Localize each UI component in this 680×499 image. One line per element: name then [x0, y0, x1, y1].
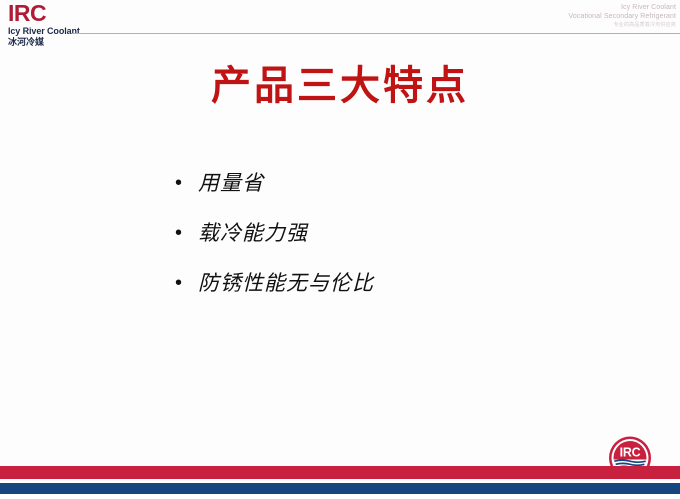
brand-logo-chinese-name: 冰河冷媒 — [8, 38, 92, 49]
header-tagline-line-3: 专业的高品质载冷剂供应商 — [569, 21, 677, 29]
list-item: • 载冷能力强 — [170, 218, 630, 268]
list-item-label: 载冷能力强 — [198, 218, 308, 248]
brand-logo-english-name: Icy River Coolant — [8, 26, 92, 37]
brand-logo: IRC Icy River Coolant 冰河冷媒 — [8, 2, 92, 49]
header-tagline: Icy River Coolant Vocational Secondary R… — [569, 3, 677, 29]
page-title: 产品三大特点 — [0, 62, 680, 110]
svg-text:IRC: IRC — [620, 446, 641, 460]
header-tagline-line-2: Vocational Secondary Refrigerant — [569, 12, 677, 21]
footer-base-strip — [0, 494, 680, 499]
bullet-dot-icon: • — [170, 168, 198, 198]
header-divider-line — [72, 33, 680, 34]
footer-blue-band — [0, 483, 680, 494]
footer-red-band — [0, 466, 680, 479]
list-item: • 用量省 — [170, 168, 630, 218]
brand-logo-mark: IRC — [8, 2, 92, 25]
presentation-slide: IRC Icy River Coolant 冰河冷媒 Icy River Coo… — [0, 0, 680, 499]
bullet-dot-icon: • — [170, 268, 198, 298]
list-item-label: 防锈性能无与伦比 — [198, 268, 374, 298]
feature-bullet-list: • 用量省 • 载冷能力强 • 防锈性能无与伦比 — [170, 168, 630, 318]
list-item-label: 用量省 — [198, 168, 264, 198]
list-item: • 防锈性能无与伦比 — [170, 268, 630, 318]
slide-header: IRC Icy River Coolant 冰河冷媒 Icy River Coo… — [0, 0, 680, 46]
header-tagline-line-1: Icy River Coolant — [569, 3, 677, 12]
bullet-dot-icon: • — [170, 218, 198, 248]
